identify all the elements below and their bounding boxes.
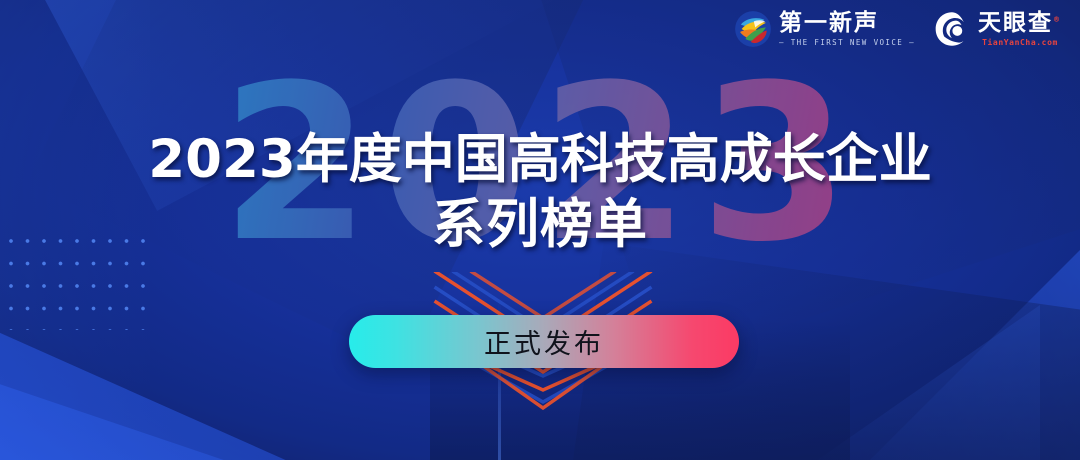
diyixinsheng-name-cn: 第一新声 (779, 12, 915, 35)
partner-logos: 第一新声 — THE FIRST NEW VOICE — 天眼查® TianYa… (734, 10, 1062, 48)
logo-diyixinsheng[interactable]: 第一新声 — THE FIRST NEW VOICE — (734, 10, 915, 48)
headline-line-2: 系列榜单 (0, 198, 1080, 252)
chevron-accent-lines-lower (428, 352, 658, 460)
release-cta-button[interactable]: 正式发布 (349, 315, 739, 368)
diyixinsheng-tagline: — THE FIRST NEW VOICE — (779, 39, 915, 47)
tianyancha-logo-text: 天眼查® TianYanCha.com (978, 12, 1062, 47)
logo-tianyancha[interactable]: 天眼查® TianYanCha.com (933, 10, 1062, 48)
tianyancha-trademark: ® (1053, 15, 1062, 23)
tianyancha-tagline: TianYanCha.com (978, 39, 1062, 47)
tianyancha-aperture-logo-icon (933, 10, 971, 48)
diyixinsheng-logo-text: 第一新声 — THE FIRST NEW VOICE — (779, 12, 915, 47)
promo-banner: 2023 2023年度中国高科技高成长企业 系列榜单 (0, 0, 1080, 460)
headline-line-1: 2023年度中国高科技高成长企业 (0, 133, 1080, 187)
release-cta-label: 正式发布 (484, 322, 604, 361)
tianyancha-name-cn: 天眼查® (978, 12, 1062, 35)
diyixinsheng-swirl-logo-icon (734, 10, 772, 48)
tianyancha-name-cn-text: 天眼查 (978, 10, 1053, 36)
page-title: 2023年度中国高科技高成长企业 系列榜单 (0, 133, 1080, 252)
